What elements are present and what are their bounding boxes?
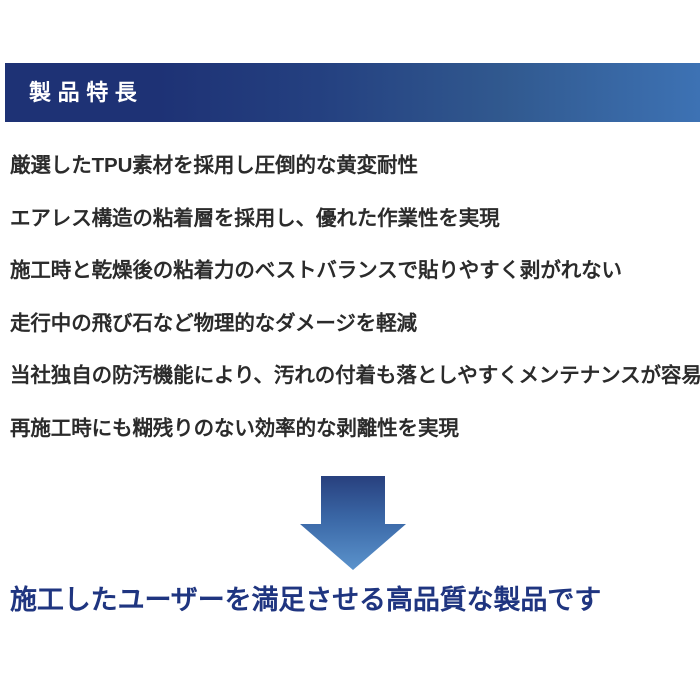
feature-item: 厳選したTPU素材を採用し圧倒的な黄変耐性 — [10, 140, 700, 193]
arrow-down-icon — [300, 476, 406, 570]
feature-item: 施工時と乾燥後の粘着力のベストバランスで貼りやすく剥がれない — [10, 245, 700, 298]
section-header-bar: 製品特長 — [5, 63, 700, 122]
feature-item: 当社独自の防汚機能により、汚れの付着も落としやすくメンテナンスが容易 — [10, 350, 700, 403]
feature-item: 再施工時にも糊残りのない効率的な剥離性を実現 — [10, 403, 700, 456]
conclusion-text: 施工したユーザーを満足させる高品質な製品です — [10, 580, 700, 620]
section-header-title: 製品特長 — [5, 82, 143, 104]
feature-item: エアレス構造の粘着層を採用し、優れた作業性を実現 — [10, 193, 700, 246]
feature-item: 走行中の飛び石など物理的なダメージを軽減 — [10, 298, 700, 351]
product-features-page: 製品特長 厳選したTPU素材を採用し圧倒的な黄変耐性 エアレス構造の粘着層を採用… — [0, 0, 700, 700]
feature-list: 厳選したTPU素材を採用し圧倒的な黄変耐性 エアレス構造の粘着層を採用し、優れた… — [10, 140, 700, 455]
